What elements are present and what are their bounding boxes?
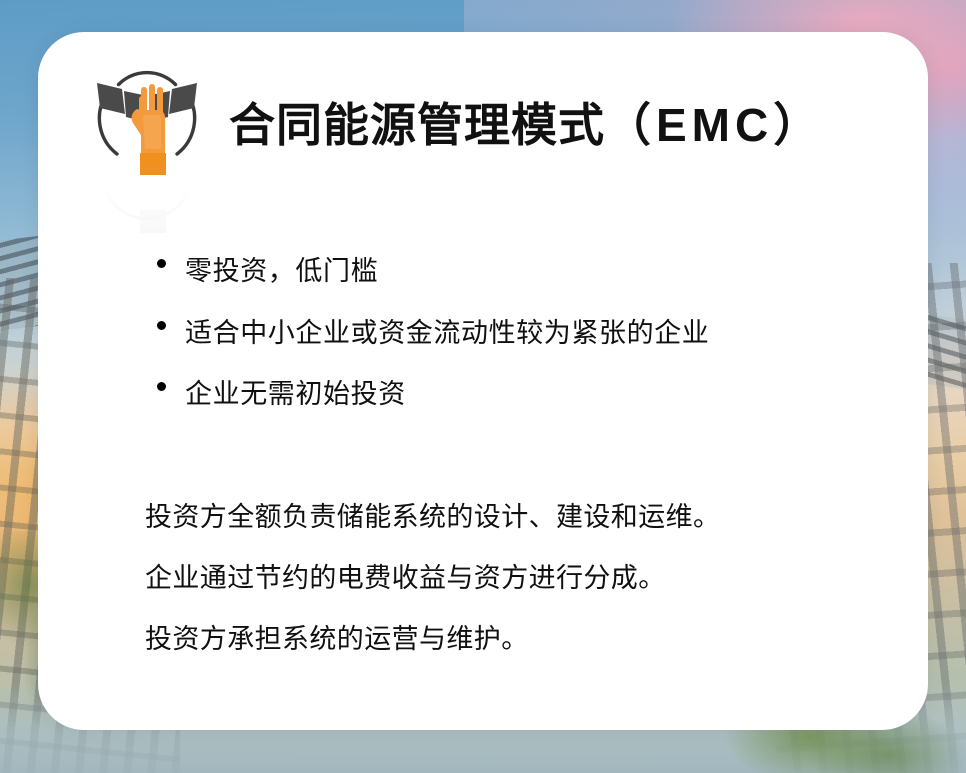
description-block: 投资方全额负责储能系统的设计、建设和运维。 企业通过节约的电费收益与资方进行分成… [145,500,905,657]
feature-bullet-list: 零投资，低门槛 适合中小企业或资金流动性较为紧张的企业 企业无需初始投资 [148,254,888,412]
poster-canvas: 合同能源管理模式（EMC） 零投资，低门槛 适合中小企业或资金流动性较为紧张的企… [0,0,966,773]
page-title-emc: （EMC） [605,99,824,151]
bullet-dot-icon [157,382,166,391]
list-item: 零投资，低门槛 [148,254,888,289]
content-card: 合同能源管理模式（EMC） 零投资，低门槛 适合中小企业或资金流动性较为紧张的企… [38,32,928,730]
list-item: 企业无需初始投资 [148,377,888,412]
list-item-label: 企业无需初始投资 [185,379,406,409]
list-item: 适合中小企业或资金流动性较为紧张的企业 [148,316,888,351]
page-title: 合同能源管理模式（EMC） [229,102,824,148]
bullet-dot-icon [157,259,166,268]
list-item-label: 零投资，低门槛 [185,256,378,286]
card-header: 合同能源管理模式（EMC） [85,65,824,215]
page-title-main: 合同能源管理模式 [229,99,605,151]
description-line: 投资方承担系统的运营与维护。 [145,622,905,657]
logo-reflection [85,173,209,233]
description-line: 投资方全额负责储能系统的设计、建设和运维。 [145,500,905,535]
bullet-dot-icon [157,321,166,330]
hand-in-circle-logo-icon [85,65,209,177]
description-line: 企业通过节约的电费收益与资方进行分成。 [145,561,905,596]
logo-container [85,65,209,215]
list-item-label: 适合中小企业或资金流动性较为紧张的企业 [185,318,709,348]
